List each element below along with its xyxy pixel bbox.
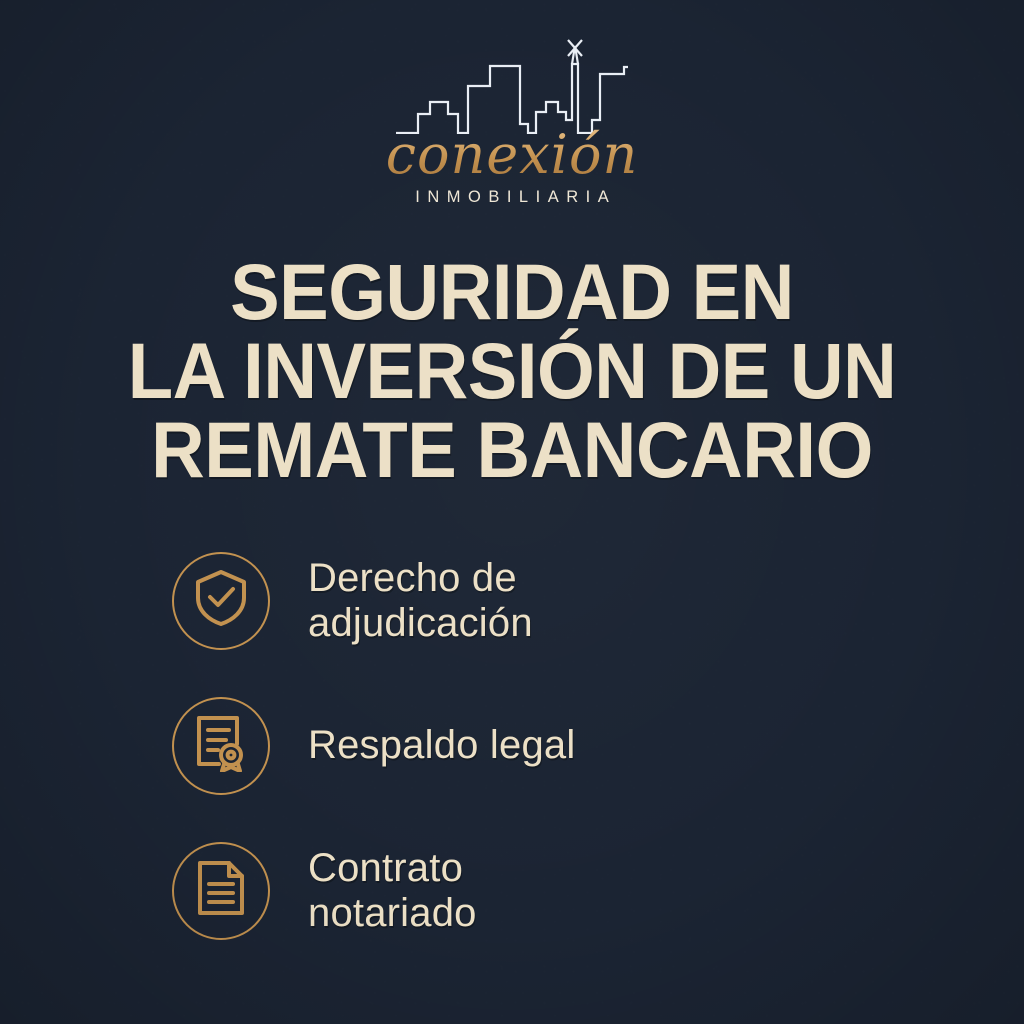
headline-line-2: LA INVERSIÓN DE UN xyxy=(31,331,994,410)
feature-label-2: Respaldo legal xyxy=(308,723,575,768)
document-icon xyxy=(196,859,246,922)
feature-label-3-line-1: Contrato xyxy=(308,846,477,891)
feature-icon-badge-1 xyxy=(172,552,270,650)
feature-icon-badge-3 xyxy=(172,842,270,940)
feature-label-1-line-2: adjudicación xyxy=(308,601,533,646)
brand-sub-name: INMOBILIARIA xyxy=(408,188,616,207)
headline-line-3: REMATE BANCARIO xyxy=(31,410,994,489)
brand-logo: conexión INMOBILIARIA xyxy=(0,34,1024,207)
feature-list: Derecho de adjudicación xyxy=(172,528,872,963)
feature-icon-badge-2 xyxy=(172,697,270,795)
poster-canvas: conexión INMOBILIARIA SEGURIDAD EN LA IN… xyxy=(0,0,1024,1024)
certificate-seal-icon xyxy=(193,714,249,777)
shield-check-icon xyxy=(194,569,248,632)
feature-label-2-line-1: Respaldo legal xyxy=(308,723,575,768)
page-title: SEGURIDAD EN LA INVERSIÓN DE UN REMATE B… xyxy=(31,252,994,489)
list-item: Derecho de adjudicación xyxy=(172,528,872,673)
feature-label-3-line-2: notariado xyxy=(308,891,477,936)
headline-line-1: SEGURIDAD EN xyxy=(31,252,994,331)
feature-label-1: Derecho de adjudicación xyxy=(308,556,533,646)
list-item: Respaldo legal xyxy=(172,673,872,818)
feature-label-3: Contrato notariado xyxy=(308,846,477,936)
brand-script-name: conexión xyxy=(386,128,639,182)
city-skyline-icon xyxy=(396,34,628,134)
feature-label-1-line-1: Derecho de xyxy=(308,556,533,601)
list-item: Contrato notariado xyxy=(172,818,872,963)
